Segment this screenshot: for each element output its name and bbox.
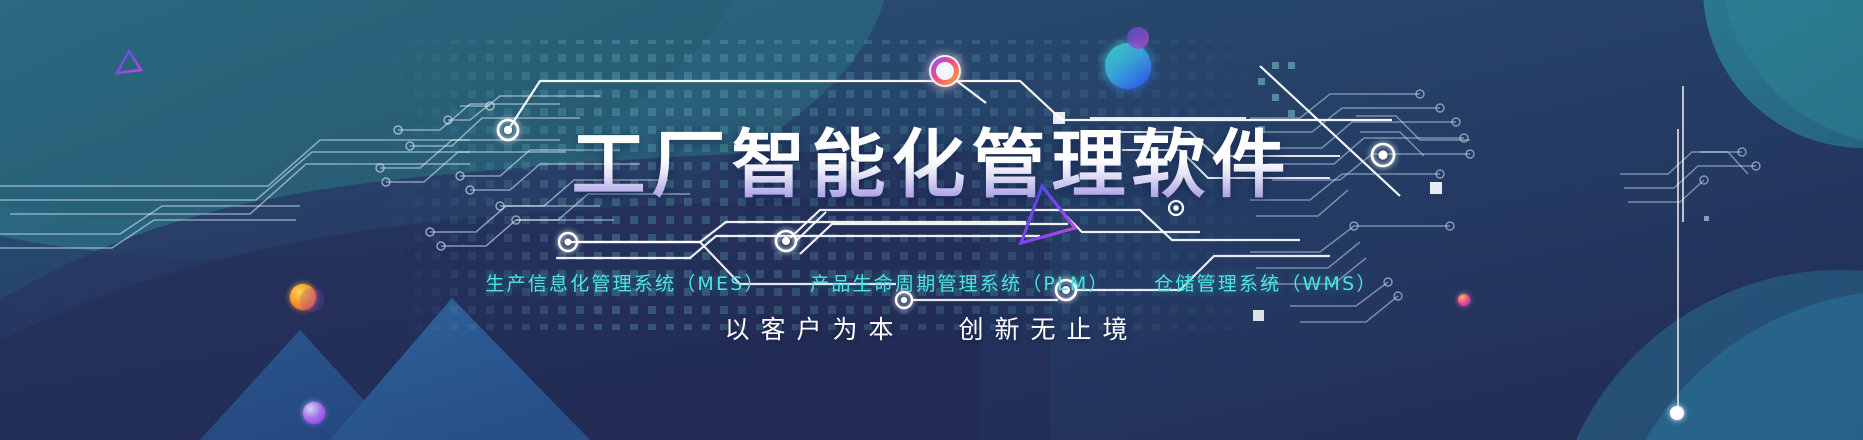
dot-purple: [303, 402, 325, 424]
circuit-chip-right: [1430, 182, 1442, 194]
vertical-line-end-dot: [1670, 406, 1684, 420]
gradient-sphere: [1105, 43, 1151, 89]
circuit-chip-small: [1704, 216, 1709, 221]
gradient-ring-node: [929, 55, 961, 87]
banner-root: 工厂智能化管理软件 生产信息化管理系统（MES） 产品生命周期管理系统（PLM）…: [0, 0, 1863, 440]
background-decor-layer: [0, 0, 1863, 440]
small-purple-circle-top: [1127, 27, 1149, 49]
circuit-chip-right-2: [1253, 310, 1264, 321]
dot-orange-shadow: [300, 288, 324, 312]
circuit-chip-mid: [1053, 112, 1065, 124]
dot-magenta-right: [1458, 294, 1470, 306]
